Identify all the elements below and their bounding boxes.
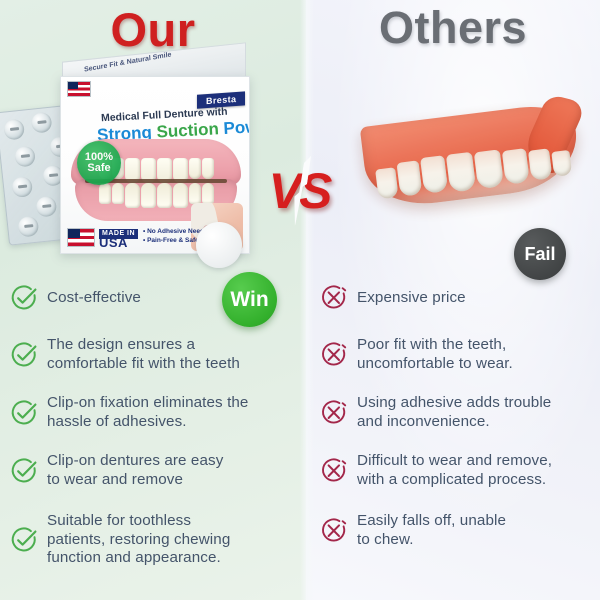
drawback-line: and inconvenience. xyxy=(357,413,551,432)
made-in-usa-badge: MADE IN USA xyxy=(67,228,138,247)
cross-circle-icon xyxy=(320,399,348,427)
white-disc-object xyxy=(196,222,242,268)
comparison-infographic: Our Others Secure Fit & Natural xyxy=(0,0,600,600)
list-item: Easily falls off, unable to chew. xyxy=(320,512,592,549)
fail-badge: Fail xyxy=(514,228,566,280)
benefit-text: Suitable for toothless patients, restori… xyxy=(47,512,230,568)
safety-seal-badge: 100% Safe xyxy=(77,141,121,185)
benefit-text: Clip-on dentures are easy to wear and re… xyxy=(47,452,223,489)
cross-circle-icon xyxy=(320,284,348,312)
list-item: Clip-on fixation eliminates the hassle o… xyxy=(10,394,298,431)
list-item: The design ensures a comfortable fit wit… xyxy=(10,336,298,373)
drawback-text: Difficult to wear and remove, with a com… xyxy=(357,452,552,489)
drawback-text: Using adhesive adds trouble and inconven… xyxy=(357,394,551,431)
drawback-text: Easily falls off, unable to chew. xyxy=(357,512,506,549)
versus-label: VS xyxy=(258,158,340,224)
cross-circle-icon xyxy=(320,341,348,369)
list-item: Cost-effective xyxy=(10,284,298,312)
drawback-text: Poor fit with the teeth, uncomfortable t… xyxy=(357,336,513,373)
drawback-line: to chew. xyxy=(357,531,506,550)
hero-product-comparison: Secure Fit & Natural Smile Bresta Medica… xyxy=(0,46,600,278)
benefit-line: Suitable for toothless xyxy=(47,512,230,531)
country-label: USA xyxy=(99,239,138,247)
check-circle-icon xyxy=(10,457,38,485)
drawback-line: Expensive price xyxy=(357,289,466,308)
our-benefits-column: Cost-effective The design ensures a comf… xyxy=(0,278,306,600)
drawback-line: Using adhesive adds trouble xyxy=(357,394,551,413)
benefit-text: The design ensures a comfortable fit wit… xyxy=(47,336,240,373)
competitor-denture-image xyxy=(364,96,578,216)
others-drawbacks-column: Expensive price Poor fit with the teeth,… xyxy=(306,278,600,600)
headline-word-power: Power xyxy=(223,116,250,138)
safety-badge-word: Safe xyxy=(87,163,110,174)
benefit-line: Clip-on fixation eliminates the xyxy=(47,394,248,413)
benefit-text: Clip-on fixation eliminates the hassle o… xyxy=(47,394,248,431)
check-circle-icon xyxy=(10,526,38,554)
cross-circle-icon xyxy=(320,457,348,485)
benefit-line: function and appearance. xyxy=(47,549,230,568)
drawback-line: Poor fit with the teeth, xyxy=(357,336,513,355)
drawback-line: Easily falls off, unable xyxy=(357,512,506,531)
list-item: Poor fit with the teeth, uncomfortable t… xyxy=(320,336,592,373)
check-circle-icon xyxy=(10,399,38,427)
check-circle-icon xyxy=(10,341,38,369)
benefit-line: Clip-on dentures are easy xyxy=(47,452,223,471)
benefit-line: to wear and remove xyxy=(47,471,223,490)
drawback-line: uncomfortable to wear. xyxy=(357,355,513,374)
benefit-line: Cost-effective xyxy=(47,289,141,308)
us-flag-icon xyxy=(67,228,95,247)
benefit-text: Cost-effective xyxy=(47,289,141,308)
check-circle-icon xyxy=(10,284,38,312)
benefit-line: The design ensures a xyxy=(47,336,240,355)
versus-badge: VS xyxy=(258,158,340,224)
feature-comparison-lists: Cost-effective The design ensures a comf… xyxy=(0,278,600,600)
list-item: Expensive price xyxy=(320,284,592,312)
list-item: Using adhesive adds trouble and inconven… xyxy=(320,394,592,431)
list-item: Difficult to wear and remove, with a com… xyxy=(320,452,592,489)
drawback-line: Difficult to wear and remove, xyxy=(357,452,552,471)
drawback-text: Expensive price xyxy=(357,289,466,308)
benefit-line: hassle of adhesives. xyxy=(47,413,248,432)
drawback-line: with a complicated process. xyxy=(357,471,552,490)
list-item: Clip-on dentures are easy to wear and re… xyxy=(10,452,298,489)
list-item: Suitable for toothless patients, restori… xyxy=(10,512,298,568)
cross-circle-icon xyxy=(320,517,348,545)
us-flag-small-icon xyxy=(67,81,91,97)
benefit-line: comfortable fit with the teeth xyxy=(47,355,240,374)
benefit-line: patients, restoring chewing xyxy=(47,531,230,550)
